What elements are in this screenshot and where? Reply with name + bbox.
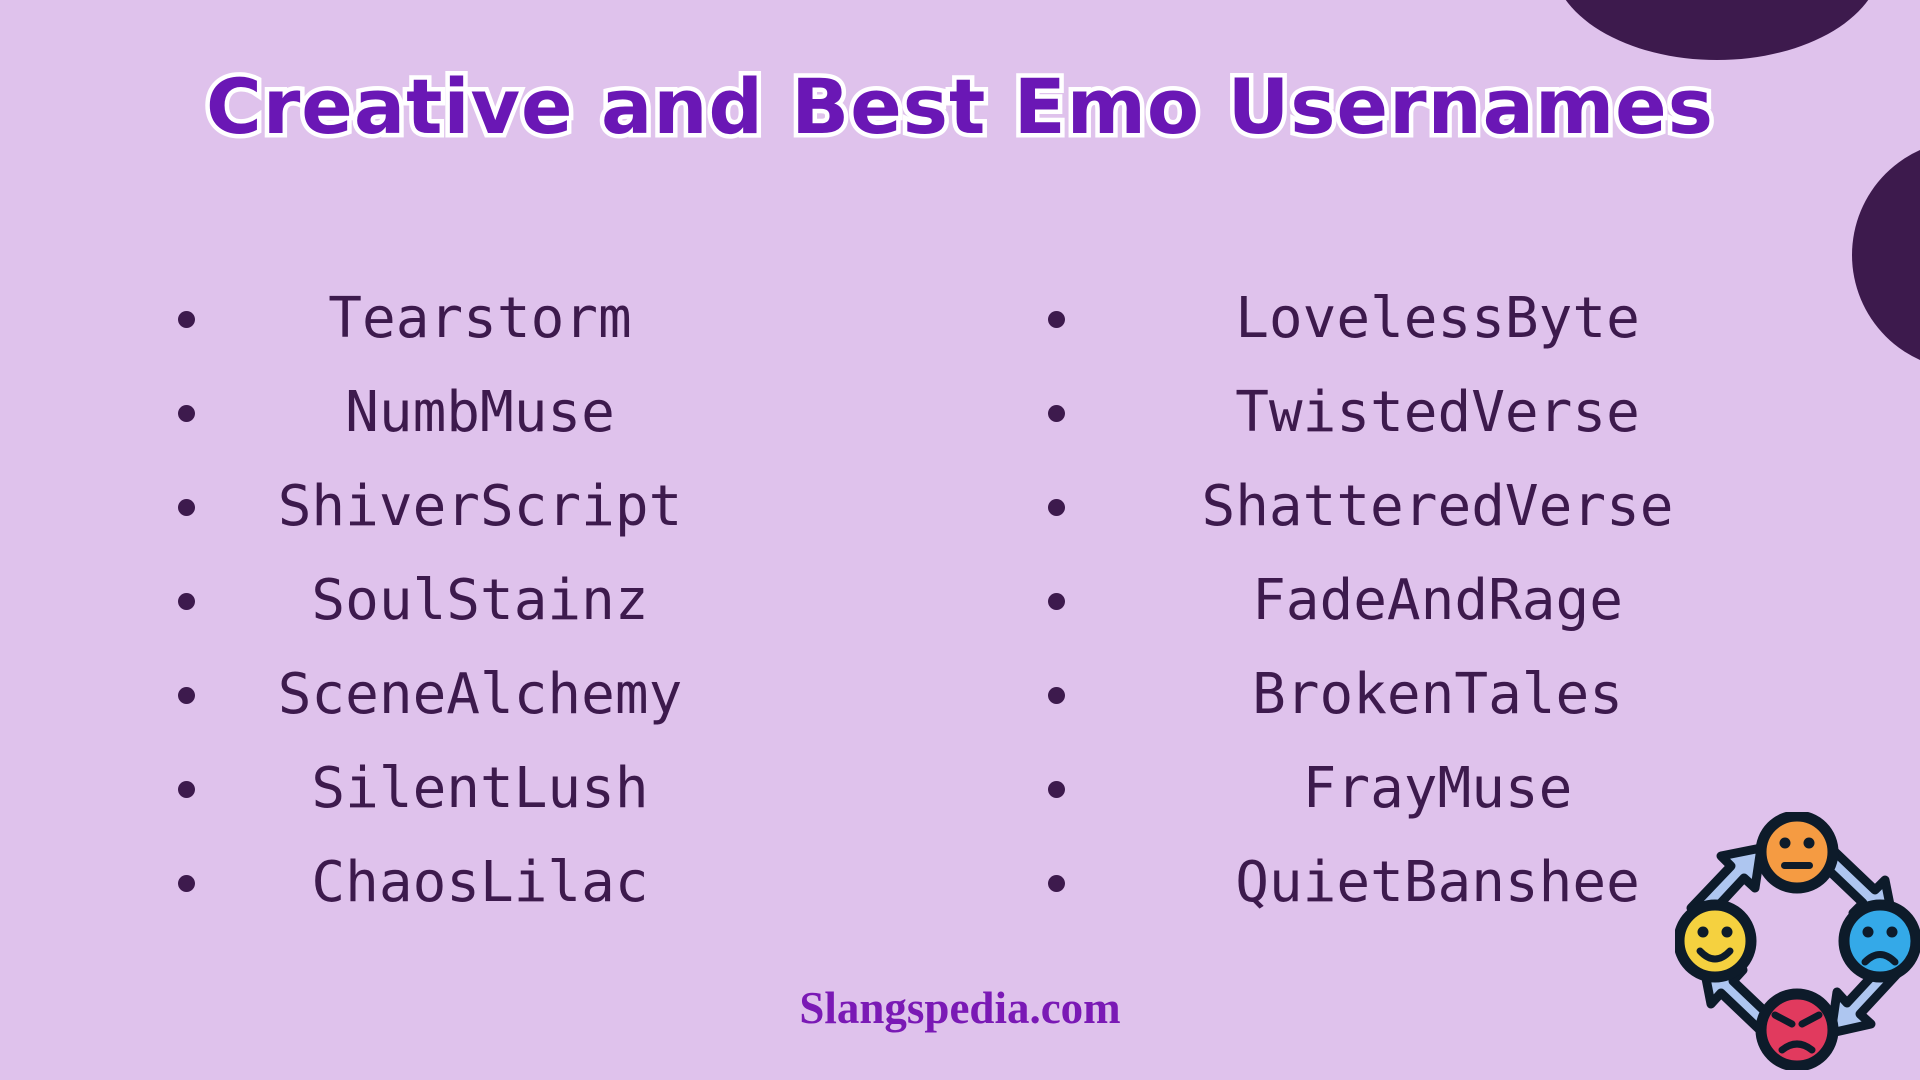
site-credit: Slangspedia.com xyxy=(799,983,1120,1033)
neutral-face-icon xyxy=(1761,816,1833,888)
bullet-icon xyxy=(178,875,195,892)
bullet-icon xyxy=(178,781,195,798)
emotion-cycle-graphic xyxy=(1675,812,1920,1070)
footer-container: Slangspedia.com xyxy=(0,982,1920,1034)
list-item: SoulStainz xyxy=(0,554,960,648)
list-item: NumbMuse xyxy=(0,366,960,460)
list-item: LovelessByte xyxy=(960,272,1920,366)
title-container: Creative and Best Emo Usernames xyxy=(0,62,1920,151)
username-list-left: Tearstorm NumbMuse ShiverScript SoulStai… xyxy=(0,272,960,930)
username-label: FrayMuse xyxy=(1065,761,1920,817)
username-label: SceneAlchemy xyxy=(195,667,960,723)
username-label: ShatteredVerse xyxy=(1065,479,1920,535)
happy-face-icon xyxy=(1679,905,1751,977)
bullet-icon xyxy=(178,499,195,516)
username-label: FadeAndRage xyxy=(1065,573,1920,629)
sad-face-icon xyxy=(1844,905,1916,977)
username-label: TwistedVerse xyxy=(1065,385,1920,441)
list-item: Tearstorm xyxy=(0,272,960,366)
username-label: SoulStainz xyxy=(195,573,960,629)
bullet-icon xyxy=(1048,405,1065,422)
list-item: ChaosLilac xyxy=(0,836,960,930)
list-item: FadeAndRage xyxy=(960,554,1920,648)
bullet-icon xyxy=(178,687,195,704)
list-item: BrokenTales xyxy=(960,648,1920,742)
bullet-icon xyxy=(1048,781,1065,798)
bullet-icon xyxy=(178,593,195,610)
poster-canvas: Creative and Best Emo Usernames Tearstor… xyxy=(0,0,1920,1080)
username-label: LovelessByte xyxy=(1065,291,1920,347)
username-lists: Tearstorm NumbMuse ShiverScript SoulStai… xyxy=(0,272,1920,930)
list-item: SceneAlchemy xyxy=(0,648,960,742)
decorative-circle-top xyxy=(1552,0,1882,60)
username-label: ShiverScript xyxy=(195,479,960,535)
page-title: Creative and Best Emo Usernames xyxy=(206,62,1714,151)
bullet-icon xyxy=(1048,875,1065,892)
bullet-icon xyxy=(1048,687,1065,704)
bullet-icon xyxy=(178,311,195,328)
angry-face-icon xyxy=(1761,994,1833,1066)
bullet-icon xyxy=(1048,593,1065,610)
username-label: SilentLush xyxy=(195,761,960,817)
username-label: NumbMuse xyxy=(195,385,960,441)
list-item: TwistedVerse xyxy=(960,366,1920,460)
list-item: ShiverScript xyxy=(0,460,960,554)
bullet-icon xyxy=(1048,311,1065,328)
bullet-icon xyxy=(178,405,195,422)
username-label: Tearstorm xyxy=(195,291,960,347)
list-item: SilentLush xyxy=(0,742,960,836)
bullet-icon xyxy=(1048,499,1065,516)
username-label: ChaosLilac xyxy=(195,855,960,911)
username-label: BrokenTales xyxy=(1065,667,1920,723)
list-item: ShatteredVerse xyxy=(960,460,1920,554)
